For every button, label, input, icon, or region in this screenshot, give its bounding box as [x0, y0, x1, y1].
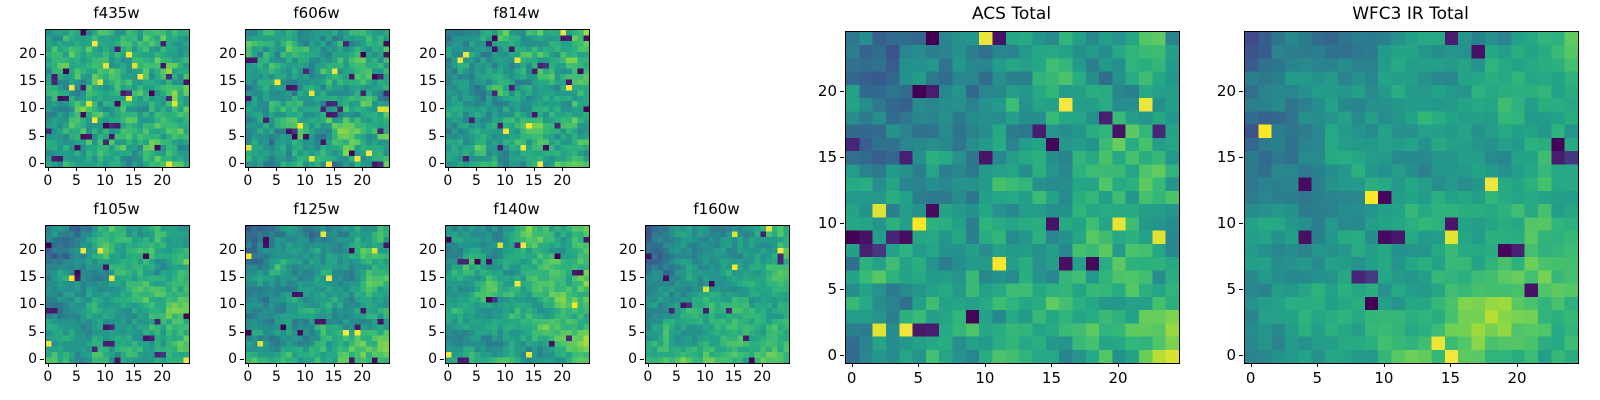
- y-tick-label-acs-total-1: 5: [811, 280, 837, 298]
- y-tick-acs-total-4: [840, 91, 844, 92]
- x-tick-f814w-2: [505, 167, 506, 171]
- y-tick-label-f140w-2: 10: [411, 296, 437, 312]
- x-tick-wfc3-ir-total-1: [1317, 363, 1318, 367]
- heatmap-image-f140w: [446, 226, 589, 363]
- x-tick-label-f435w-0: 0: [43, 173, 52, 189]
- y-tick-label-f105w-4: 20: [11, 242, 37, 258]
- x-tick-f140w-2: [505, 363, 506, 367]
- y-tick-label-wfc3-ir-total-0: 0: [1210, 346, 1236, 364]
- y-tick-f606w-0: [240, 163, 244, 164]
- x-tick-f125w-3: [334, 363, 335, 367]
- x-tick-f140w-4: [562, 363, 563, 367]
- x-tick-f160w-1: [676, 363, 677, 367]
- y-tick-f606w-4: [240, 54, 244, 55]
- y-tick-f160w-1: [640, 332, 644, 333]
- y-tick-label-f814w-3: 15: [411, 73, 437, 89]
- x-tick-wfc3-ir-total-3: [1450, 363, 1451, 367]
- y-tick-label-f160w-0: 0: [611, 351, 637, 367]
- y-tick-label-f160w-4: 20: [611, 242, 637, 258]
- y-tick-f814w-1: [440, 136, 444, 137]
- y-tick-label-f105w-1: 5: [11, 324, 37, 340]
- y-tick-label-f606w-2: 10: [211, 100, 237, 116]
- y-tick-f435w-4: [40, 54, 44, 55]
- y-tick-wfc3-ir-total-4: [1239, 91, 1243, 92]
- y-tick-f140w-2: [440, 304, 444, 305]
- y-tick-label-f125w-2: 10: [211, 296, 237, 312]
- panel-title-f814w: f814w: [445, 4, 588, 22]
- y-tick-acs-total-2: [840, 223, 844, 224]
- y-tick-label-f814w-0: 0: [411, 155, 437, 171]
- heatmap-axes-f125w[interactable]: [245, 225, 390, 364]
- y-tick-label-f140w-3: 15: [411, 269, 437, 285]
- x-tick-f606w-2: [305, 167, 306, 171]
- x-tick-label-f814w-1: 5: [472, 173, 481, 189]
- x-tick-label-f606w-4: 20: [353, 173, 371, 189]
- y-tick-label-f160w-1: 5: [611, 324, 637, 340]
- x-tick-f814w-1: [476, 167, 477, 171]
- x-tick-f814w-4: [562, 167, 563, 171]
- y-tick-label-f606w-0: 0: [211, 155, 237, 171]
- x-tick-label-f160w-2: 10: [696, 369, 714, 385]
- y-tick-label-f435w-0: 0: [11, 155, 37, 171]
- heatmap-image-f606w: [246, 30, 389, 167]
- x-tick-f435w-4: [162, 167, 163, 171]
- x-tick-label-f606w-1: 5: [272, 173, 281, 189]
- y-tick-label-f125w-3: 15: [211, 269, 237, 285]
- y-tick-label-f125w-0: 0: [211, 351, 237, 367]
- x-tick-label-f814w-4: 20: [553, 173, 571, 189]
- y-tick-label-f435w-4: 20: [11, 46, 37, 62]
- x-tick-acs-total-2: [985, 363, 986, 367]
- y-tick-f160w-4: [640, 250, 644, 251]
- x-tick-f435w-1: [76, 167, 77, 171]
- y-tick-acs-total-1: [840, 289, 844, 290]
- x-tick-f435w-2: [105, 167, 106, 171]
- x-tick-f140w-1: [476, 363, 477, 367]
- x-tick-label-f160w-4: 20: [753, 369, 771, 385]
- x-tick-f105w-1: [76, 363, 77, 367]
- y-tick-f435w-2: [40, 108, 44, 109]
- x-tick-f160w-4: [762, 363, 763, 367]
- x-tick-label-wfc3-ir-total-0: 0: [1246, 369, 1256, 387]
- y-tick-label-f435w-2: 10: [11, 100, 37, 116]
- y-tick-label-f140w-4: 20: [411, 242, 437, 258]
- y-tick-f814w-4: [440, 54, 444, 55]
- heatmap-axes-f140w[interactable]: [445, 225, 590, 364]
- y-tick-f160w-0: [640, 359, 644, 360]
- y-tick-f160w-3: [640, 277, 644, 278]
- y-tick-label-f814w-1: 5: [411, 128, 437, 144]
- y-tick-label-f814w-2: 10: [411, 100, 437, 116]
- x-tick-f606w-0: [248, 167, 249, 171]
- y-tick-label-acs-total-4: 20: [811, 82, 837, 100]
- heatmap-image-f105w: [46, 226, 189, 363]
- x-tick-f105w-4: [162, 363, 163, 367]
- y-tick-f105w-3: [40, 277, 44, 278]
- y-tick-wfc3-ir-total-2: [1239, 223, 1243, 224]
- y-tick-label-f105w-2: 10: [11, 296, 37, 312]
- y-tick-f125w-0: [240, 359, 244, 360]
- x-tick-f435w-0: [48, 167, 49, 171]
- x-tick-label-f105w-2: 10: [96, 369, 114, 385]
- heatmap-image-f435w: [46, 30, 189, 167]
- x-tick-label-f140w-3: 15: [525, 369, 543, 385]
- y-tick-label-f606w-4: 20: [211, 46, 237, 62]
- x-tick-f125w-0: [248, 363, 249, 367]
- x-tick-label-f140w-1: 5: [472, 369, 481, 385]
- heatmap-image-acs-total: [846, 32, 1179, 363]
- x-tick-label-f814w-0: 0: [443, 173, 452, 189]
- x-tick-label-wfc3-ir-total-2: 10: [1374, 369, 1393, 387]
- x-tick-f160w-2: [705, 363, 706, 367]
- x-tick-label-f435w-3: 15: [125, 173, 143, 189]
- x-tick-label-f435w-1: 5: [72, 173, 81, 189]
- y-tick-f105w-4: [40, 250, 44, 251]
- y-tick-label-wfc3-ir-total-4: 20: [1210, 82, 1236, 100]
- panel-title-acs-total: ACS Total: [845, 4, 1178, 24]
- x-tick-f606w-1: [276, 167, 277, 171]
- y-tick-f140w-3: [440, 277, 444, 278]
- x-tick-wfc3-ir-total-0: [1251, 363, 1252, 367]
- x-tick-label-f140w-2: 10: [496, 369, 514, 385]
- x-tick-label-f105w-3: 15: [125, 369, 143, 385]
- y-tick-label-wfc3-ir-total-2: 10: [1210, 214, 1236, 232]
- y-tick-f606w-1: [240, 136, 244, 137]
- y-tick-label-f435w-1: 5: [11, 128, 37, 144]
- x-tick-f435w-3: [134, 167, 135, 171]
- y-tick-f814w-2: [440, 108, 444, 109]
- x-tick-label-f435w-2: 10: [96, 173, 114, 189]
- y-tick-f435w-0: [40, 163, 44, 164]
- heatmap-image-wfc3-ir-total: [1245, 32, 1578, 363]
- x-tick-label-f606w-0: 0: [243, 173, 252, 189]
- panel-title-f606w: f606w: [245, 4, 388, 22]
- x-tick-acs-total-4: [1118, 363, 1119, 367]
- x-tick-label-f160w-0: 0: [643, 369, 652, 385]
- y-tick-label-f125w-1: 5: [211, 324, 237, 340]
- y-tick-label-f125w-4: 20: [211, 242, 237, 258]
- panel-title-f140w: f140w: [445, 200, 588, 218]
- heatmap-axes-f606w[interactable]: [245, 29, 390, 168]
- y-tick-f105w-1: [40, 332, 44, 333]
- heatmap-image-f125w: [246, 226, 389, 363]
- x-tick-label-f140w-4: 20: [553, 369, 571, 385]
- x-tick-f140w-3: [534, 363, 535, 367]
- y-tick-label-f160w-2: 10: [611, 296, 637, 312]
- x-tick-label-acs-total-1: 5: [913, 369, 923, 387]
- panel-title-wfc3-ir-total: WFC3 IR Total: [1244, 4, 1577, 24]
- y-tick-f105w-2: [40, 304, 44, 305]
- x-tick-wfc3-ir-total-4: [1517, 363, 1518, 367]
- y-tick-label-f814w-4: 20: [411, 46, 437, 62]
- y-tick-label-acs-total-2: 10: [811, 214, 837, 232]
- y-tick-label-f140w-0: 0: [411, 351, 437, 367]
- x-tick-label-acs-total-4: 20: [1109, 369, 1128, 387]
- y-tick-acs-total-3: [840, 157, 844, 158]
- x-tick-label-f160w-3: 15: [725, 369, 743, 385]
- y-tick-label-f606w-3: 15: [211, 73, 237, 89]
- x-tick-f160w-3: [734, 363, 735, 367]
- x-tick-f125w-4: [362, 363, 363, 367]
- y-tick-wfc3-ir-total-3: [1239, 157, 1243, 158]
- x-tick-label-wfc3-ir-total-1: 5: [1312, 369, 1322, 387]
- heatmap-image-f160w: [646, 226, 789, 363]
- x-tick-acs-total-3: [1051, 363, 1052, 367]
- y-tick-f814w-3: [440, 81, 444, 82]
- x-tick-label-f105w-1: 5: [72, 369, 81, 385]
- y-tick-label-f160w-3: 15: [611, 269, 637, 285]
- y-tick-wfc3-ir-total-1: [1239, 289, 1243, 290]
- y-tick-label-wfc3-ir-total-1: 5: [1210, 280, 1236, 298]
- y-tick-f140w-1: [440, 332, 444, 333]
- y-tick-label-acs-total-3: 15: [811, 148, 837, 166]
- x-tick-label-wfc3-ir-total-3: 15: [1441, 369, 1460, 387]
- x-tick-acs-total-0: [852, 363, 853, 367]
- x-tick-f814w-3: [534, 167, 535, 171]
- x-tick-label-f814w-3: 15: [525, 173, 543, 189]
- y-tick-f160w-2: [640, 304, 644, 305]
- y-tick-f606w-3: [240, 81, 244, 82]
- panel-title-f105w: f105w: [45, 200, 188, 218]
- y-tick-f435w-1: [40, 136, 44, 137]
- panel-title-f125w: f125w: [245, 200, 388, 218]
- y-tick-f140w-4: [440, 250, 444, 251]
- y-tick-label-f435w-3: 15: [11, 73, 37, 89]
- x-tick-f140w-0: [448, 363, 449, 367]
- y-tick-label-acs-total-0: 0: [811, 346, 837, 364]
- y-tick-f435w-3: [40, 81, 44, 82]
- x-tick-label-f606w-3: 15: [325, 173, 343, 189]
- x-tick-label-f125w-3: 15: [325, 369, 343, 385]
- heatmap-axes-f105w[interactable]: [45, 225, 190, 364]
- y-tick-f606w-2: [240, 108, 244, 109]
- heatmap-axes-f435w[interactable]: [45, 29, 190, 168]
- y-tick-f125w-4: [240, 250, 244, 251]
- x-tick-label-f140w-0: 0: [443, 369, 452, 385]
- y-tick-label-f105w-0: 0: [11, 351, 37, 367]
- x-tick-label-f160w-1: 5: [672, 369, 681, 385]
- x-tick-f606w-3: [334, 167, 335, 171]
- x-tick-label-f606w-2: 10: [296, 173, 314, 189]
- x-tick-label-f125w-4: 20: [353, 369, 371, 385]
- x-tick-label-f435w-4: 20: [153, 173, 171, 189]
- x-tick-label-f105w-4: 20: [153, 369, 171, 385]
- heatmap-axes-wfc3-ir-total[interactable]: [1244, 31, 1579, 364]
- x-tick-label-acs-total-2: 10: [975, 369, 994, 387]
- y-tick-label-wfc3-ir-total-3: 15: [1210, 148, 1236, 166]
- y-tick-wfc3-ir-total-0: [1239, 355, 1243, 356]
- y-tick-label-f105w-3: 15: [11, 269, 37, 285]
- x-tick-label-acs-total-3: 15: [1042, 369, 1061, 387]
- heatmap-axes-f814w[interactable]: [445, 29, 590, 168]
- y-tick-f140w-0: [440, 359, 444, 360]
- x-tick-label-f125w-0: 0: [243, 369, 252, 385]
- y-tick-f814w-0: [440, 163, 444, 164]
- x-tick-label-f814w-2: 10: [496, 173, 514, 189]
- x-tick-label-wfc3-ir-total-4: 20: [1508, 369, 1527, 387]
- x-tick-f105w-0: [48, 363, 49, 367]
- x-tick-f105w-3: [134, 363, 135, 367]
- x-tick-label-acs-total-0: 0: [847, 369, 857, 387]
- x-tick-f160w-0: [648, 363, 649, 367]
- x-tick-f125w-1: [276, 363, 277, 367]
- heatmap-axes-f160w[interactable]: [645, 225, 790, 364]
- x-tick-wfc3-ir-total-2: [1384, 363, 1385, 367]
- heatmap-axes-acs-total[interactable]: [845, 31, 1180, 364]
- x-tick-f606w-4: [362, 167, 363, 171]
- x-tick-acs-total-1: [918, 363, 919, 367]
- y-tick-acs-total-0: [840, 355, 844, 356]
- panel-title-f160w: f160w: [645, 200, 788, 218]
- x-tick-label-f125w-1: 5: [272, 369, 281, 385]
- x-tick-f105w-2: [105, 363, 106, 367]
- y-tick-label-f606w-1: 5: [211, 128, 237, 144]
- y-tick-label-f140w-1: 5: [411, 324, 437, 340]
- y-tick-f125w-2: [240, 304, 244, 305]
- x-tick-label-f125w-2: 10: [296, 369, 314, 385]
- y-tick-f125w-3: [240, 277, 244, 278]
- x-tick-label-f105w-0: 0: [43, 369, 52, 385]
- x-tick-f125w-2: [305, 363, 306, 367]
- y-tick-f105w-0: [40, 359, 44, 360]
- x-tick-f814w-0: [448, 167, 449, 171]
- y-tick-f125w-1: [240, 332, 244, 333]
- heatmap-image-f814w: [446, 30, 589, 167]
- panel-title-f435w: f435w: [45, 4, 188, 22]
